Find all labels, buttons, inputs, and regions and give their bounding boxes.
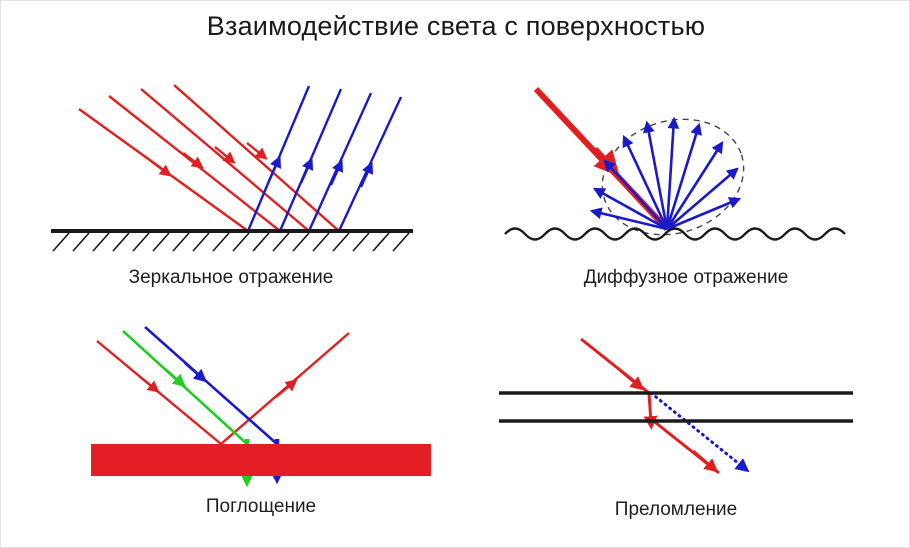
page-title: Взаимодействие света с поверхностью	[1, 11, 910, 42]
incident-ray-red	[97, 341, 221, 444]
panel-specular-reflection: Зеркальное отражение	[41, 71, 421, 296]
incident-arrowhead-red	[139, 376, 155, 389]
light-surface-interaction-figure: Взаимодействие света с поверхностью	[0, 0, 910, 548]
caption-refraction: Преломление	[481, 499, 871, 521]
inside-slab-ray-red	[649, 393, 651, 423]
caption-specular-reflection: Зеркальное отражение	[41, 267, 421, 289]
caption-absorption: Поглощение	[61, 496, 461, 518]
reflected-arrowhead-red	[276, 383, 293, 397]
rough-surface-wave	[505, 229, 845, 240]
incident-arrowhead-blue	[185, 363, 202, 378]
incident-arrowhead-red	[621, 371, 639, 386]
incident-ray-blue	[145, 327, 277, 444]
surface-hatching	[53, 233, 409, 251]
incident-ray-green	[123, 331, 247, 444]
caption-diffuse-reflection: Диффузное отражение	[491, 267, 881, 289]
exit-arrowhead-red	[693, 451, 713, 468]
reflected-rays-blue	[248, 86, 401, 231]
panel-refraction: Преломление	[481, 331, 871, 543]
panel-absorption: Поглощение	[61, 321, 461, 543]
incident-arrowhead-green	[165, 369, 181, 383]
absorbing-material-bar	[91, 444, 431, 476]
panel-diffuse-reflection: Диффузное отражение	[491, 71, 881, 296]
